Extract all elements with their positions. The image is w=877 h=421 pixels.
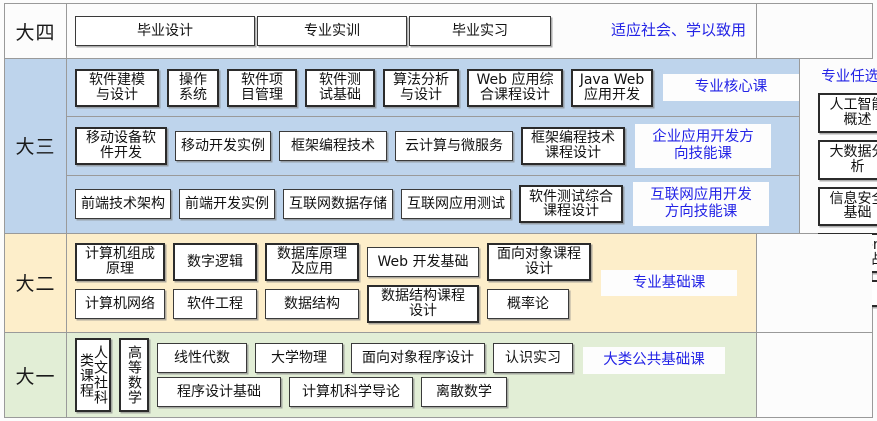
course-box[interactable]: 操作 系统 <box>167 69 219 107</box>
course-box[interactable]: 数字逻辑 <box>173 243 257 281</box>
course-box[interactable]: 算法分析 与设计 <box>383 69 459 107</box>
course-box[interactable]: 软件建模 与设计 <box>75 69 159 107</box>
course-box[interactable]: 毕业设计 <box>75 16 255 46</box>
elective-box[interactable]: 大数据分 析 <box>818 140 877 180</box>
course-box[interactable]: 前端技术架构 <box>75 189 171 219</box>
course-line: 毕业设计 专业实训 毕业实习 <box>75 16 551 46</box>
course-box[interactable]: 前端开发实例 <box>179 189 275 219</box>
year-label-sophomore: 大二 <box>5 234 67 333</box>
year-body-senior: 毕业设计 专业实训 毕业实习 适应社会、学以致用 <box>67 4 756 58</box>
course-box[interactable]: 大学物理 <box>255 343 343 373</box>
elective-box[interactable]: 信息安全 基础 <box>818 187 877 227</box>
category-tag-foundation: 专业基础课 <box>601 270 737 297</box>
course-box[interactable]: 面向对象程序设计 <box>351 343 485 373</box>
course-line: 计算机网络 软件工程 数据结构 数据结构课程 设计 概率论 <box>75 285 591 323</box>
course-box[interactable]: 数据库原理 及应用 <box>265 243 359 281</box>
course-box[interactable]: 计算机网络 <box>75 289 165 319</box>
course-box[interactable]: 计算机科学导论 <box>289 377 413 407</box>
track-lines: 计算机组成 原理 数字逻辑 数据库原理 及应用 Web 开发基础 面向对象课程 … <box>75 243 591 323</box>
year-row-junior: 大三 软件建模 与设计 操作 系统 软件项 目管理 软件测 试基础 算法分析 与… <box>5 59 872 233</box>
category-tag-core: 专业核心课 <box>663 74 799 101</box>
course-line: 软件建模 与设计 操作 系统 软件项 目管理 软件测 试基础 算法分析 与设计 … <box>75 69 653 107</box>
track-freshman-general: 人文社科类课程 高等数学 线性代数 大学物理 面向对象程序设计 认识实习 程序设… <box>67 333 756 417</box>
track-lines: 毕业设计 专业实训 毕业实习 <box>75 16 551 46</box>
year-row-senior: 大四 毕业设计 专业实训 毕业实习 适应社会、学以致用 <box>5 4 872 59</box>
course-box[interactable]: Web 应用综 合课程设计 <box>467 69 563 107</box>
course-box[interactable]: 数据结构课程 设计 <box>367 285 479 323</box>
course-box[interactable]: 数据结构 <box>265 289 359 319</box>
course-box[interactable]: 软件项 目管理 <box>227 69 297 107</box>
course-line: 程序设计基础 计算机科学导论 离散数学 <box>157 377 573 407</box>
course-box-vertical[interactable]: 人文社科类课程 <box>75 338 111 412</box>
curriculum-grid: 大四 毕业设计 专业实训 毕业实习 适应社会、学以致用 大三 <box>4 3 873 418</box>
course-box[interactable]: 线性代数 <box>157 343 247 373</box>
track-lines: 前端技术架构 前端开发实例 互联网数据存储 互联网应用测试 软件测试综合 课程设… <box>75 185 623 223</box>
year-body-junior: 软件建模 与设计 操作 系统 软件项 目管理 软件测 试基础 算法分析 与设计 … <box>67 59 799 232</box>
curriculum-diagram: 大四 毕业设计 专业实训 毕业实习 适应社会、学以致用 大三 <box>0 0 877 421</box>
course-line: 移动设备软 件开发 移动开发实例 框架编程技术 云计算与微服务 框架编程技术 课… <box>75 127 625 165</box>
elective-column: 专业任选课 人工智能 概述 大数据分 析 信息安全 基础 Python 案例实战… <box>799 59 877 232</box>
course-box[interactable]: 移动开发实例 <box>175 131 271 161</box>
category-tag-internet: 互联网应用开发 方向技能课 <box>633 182 769 225</box>
course-box[interactable]: 框架编程技术 课程设计 <box>521 127 625 165</box>
course-box[interactable]: 离散数学 <box>421 377 507 407</box>
year-row-freshman: 大一 人文社科类课程 高等数学 线性代数 大学物理 面向对象程序设计 认识实习 … <box>5 333 872 417</box>
course-box[interactable]: 互联网应用测试 <box>401 189 511 219</box>
track-lines: 线性代数 大学物理 面向对象程序设计 认识实习 程序设计基础 计算机科学导论 离… <box>157 343 573 407</box>
course-line: 计算机组成 原理 数字逻辑 数据库原理 及应用 Web 开发基础 面向对象课程 … <box>75 243 591 281</box>
course-box[interactable]: 云计算与微服务 <box>395 131 513 161</box>
course-box[interactable]: Java Web 应用开发 <box>571 69 653 107</box>
elective-column-spacer-senior <box>756 4 872 58</box>
course-box[interactable]: 毕业实习 <box>409 16 551 46</box>
course-box[interactable]: 专业实训 <box>257 16 407 46</box>
course-box[interactable]: 移动设备软 件开发 <box>75 127 167 165</box>
track-junior-core: 软件建模 与设计 操作 系统 软件项 目管理 软件测 试基础 算法分析 与设计 … <box>67 59 799 116</box>
course-box[interactable]: 认识实习 <box>493 343 573 373</box>
track-senior-practice: 毕业设计 专业实训 毕业实习 适应社会、学以致用 <box>67 4 756 58</box>
course-line: 线性代数 大学物理 面向对象程序设计 认识实习 <box>157 343 573 373</box>
year-label-junior: 大三 <box>5 59 67 232</box>
year-body-freshman: 人文社科类课程 高等数学 线性代数 大学物理 面向对象程序设计 认识实习 程序设… <box>67 333 756 417</box>
track-sophomore-foundation: 计算机组成 原理 数字逻辑 数据库原理 及应用 Web 开发基础 面向对象课程 … <box>67 234 756 333</box>
year-row-sophomore: 大二 计算机组成 原理 数字逻辑 数据库原理 及应用 Web 开发基础 面向对象… <box>5 234 872 334</box>
course-line: 前端技术架构 前端开发实例 互联网数据存储 互联网应用测试 软件测试综合 课程设… <box>75 185 623 223</box>
course-box[interactable]: 面向对象课程 设计 <box>487 243 591 281</box>
track-junior-enterprise: 移动设备软 件开发 移动开发实例 框架编程技术 云计算与微服务 框架编程技术 课… <box>67 116 799 174</box>
elective-box[interactable]: 人工智能 概述 <box>818 93 877 133</box>
course-box[interactable]: 互联网数据存储 <box>283 189 393 219</box>
year-label-senior: 大四 <box>5 4 67 58</box>
course-box[interactable]: 计算机组成 原理 <box>75 243 165 281</box>
course-box[interactable]: 软件工程 <box>173 289 257 319</box>
category-tag-general: 大类公共基础课 <box>583 347 725 374</box>
course-box[interactable]: 程序设计基础 <box>157 377 281 407</box>
track-junior-internet: 前端技术架构 前端开发实例 互联网数据存储 互联网应用测试 软件测试综合 课程设… <box>67 175 799 233</box>
elective-column-spacer-freshman <box>756 333 872 417</box>
course-box[interactable]: Web 开发基础 <box>367 247 479 277</box>
category-tag-motto: 适应社会、学以致用 <box>599 17 758 44</box>
track-lines: 软件建模 与设计 操作 系统 软件项 目管理 软件测 试基础 算法分析 与设计 … <box>75 69 653 107</box>
course-box[interactable]: 框架编程技术 <box>279 131 387 161</box>
course-box[interactable]: 概率论 <box>487 289 569 319</box>
elective-column-title: 专业任选课 <box>821 65 877 86</box>
track-lines: 移动设备软 件开发 移动开发实例 框架编程技术 云计算与微服务 框架编程技术 课… <box>75 127 625 165</box>
elective-column-spacer-sophomore <box>756 234 872 333</box>
year-body-sophomore: 计算机组成 原理 数字逻辑 数据库原理 及应用 Web 开发基础 面向对象课程 … <box>67 234 756 333</box>
course-box[interactable]: 软件测 试基础 <box>305 69 375 107</box>
course-box[interactable]: 软件测试综合 课程设计 <box>519 185 623 223</box>
year-label-freshman: 大一 <box>5 333 67 417</box>
category-tag-enterprise: 企业应用开发方 向技能课 <box>635 124 771 167</box>
course-box-vertical[interactable]: 高等数学 <box>119 338 149 412</box>
